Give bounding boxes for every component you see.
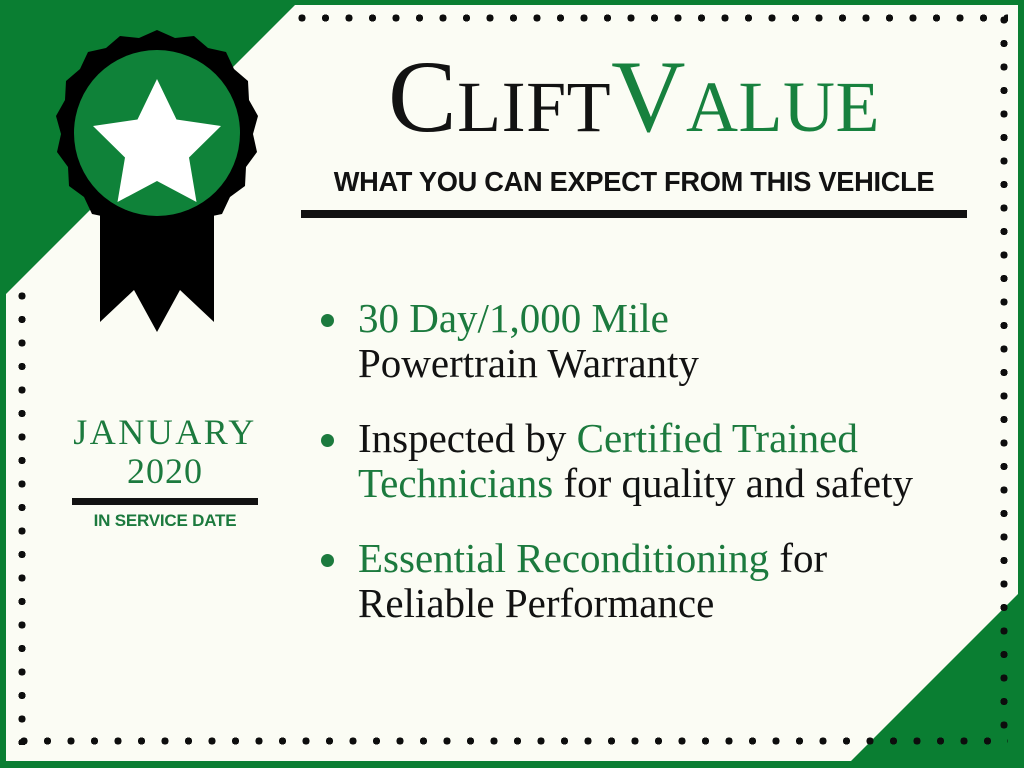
frame-border-left (0, 0, 6, 768)
in-service-year: 2020 (56, 452, 274, 491)
in-service-date-label: IN SERVICE DATE (56, 511, 274, 531)
dotted-border-bottom (18, 737, 1008, 745)
dotted-border-top (296, 14, 1008, 22)
in-service-month: January (56, 414, 274, 452)
benefit-detail: for quality and safety (563, 460, 913, 506)
page-title: CliftValue (300, 44, 968, 150)
brand-word-value: Value (611, 40, 880, 154)
benefit-lead: Inspected by (358, 415, 566, 461)
in-service-divider-rule (72, 498, 258, 505)
frame-border-bottom (0, 761, 1024, 768)
list-item: 30 Day/1,000 Mile Powertrain Warranty (312, 296, 972, 386)
benefit-highlight: Essential Reconditioning (358, 535, 769, 581)
bullet-dot-icon (321, 554, 334, 567)
header-divider-rule (301, 210, 967, 218)
bullet-dot-icon (321, 434, 334, 447)
brand-word-clift: Clift (388, 40, 611, 154)
in-service-date-block: January 2020 IN SERVICE DATE (56, 414, 274, 531)
list-item: Essential Reconditioning for Reliable Pe… (312, 536, 972, 626)
benefits-list: 30 Day/1,000 Mile Powertrain Warranty In… (312, 296, 972, 627)
dotted-border-left (18, 290, 26, 745)
dotted-border-right (1000, 14, 1008, 745)
frame-border-right (1018, 0, 1024, 768)
bullet-dot-icon (321, 314, 334, 327)
benefit-detail: Powertrain Warranty (358, 340, 699, 386)
list-item: Inspected by Certified Trained Technicia… (312, 416, 972, 506)
header-subtitle: WHAT YOU CAN EXPECT FROM THIS VEHICLE (303, 166, 964, 198)
frame-border-top (0, 0, 1024, 5)
award-rosette-star-icon (42, 22, 272, 332)
benefit-highlight: 30 Day/1,000 Mile (358, 295, 669, 341)
header-block: CliftValue WHAT YOU CAN EXPECT FROM THIS… (300, 44, 968, 218)
clift-value-vehicle-badge-card: CliftValue WHAT YOU CAN EXPECT FROM THIS… (0, 0, 1024, 768)
